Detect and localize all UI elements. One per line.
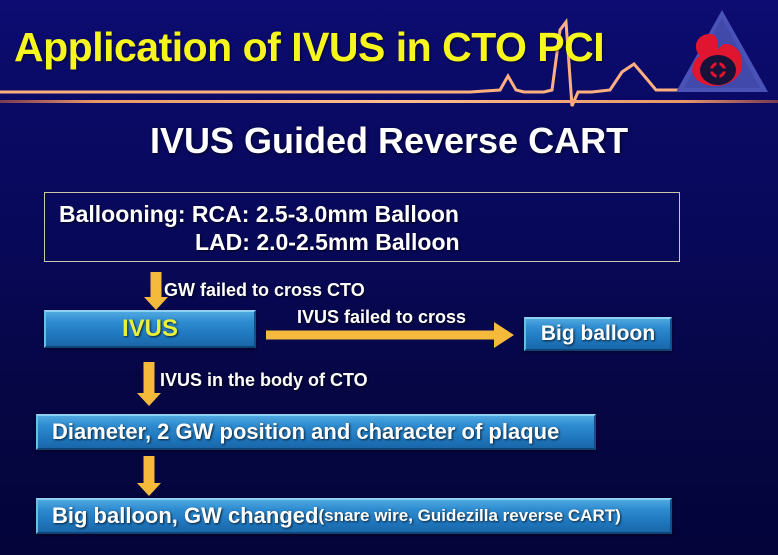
arrow-right-ivus-failed <box>266 322 514 348</box>
ivus-box[interactable]: IVUS <box>44 310 256 348</box>
ivus-box-label: IVUS <box>122 315 178 343</box>
ballooning-lad-line: LAD: 2.0-2.5mm Balloon <box>195 229 460 256</box>
arrow-label-gw-failed: GW failed to cross CTO <box>164 280 365 301</box>
arrow-down-to-final <box>132 456 166 500</box>
diameter-box-label: Diameter, 2 GW position and character of… <box>52 419 559 445</box>
final-step-label-main: Big balloon, GW changed <box>52 503 318 529</box>
ballooning-box: Ballooning: RCA: 2.5-3.0mm Balloon LAD: … <box>44 192 680 262</box>
slide-root: Application of IVUS in CTO PCI IVUS Guid… <box>0 0 778 555</box>
header-divider <box>0 100 778 103</box>
slide-header: Application of IVUS in CTO PCI <box>0 0 778 108</box>
arrow-label-ivus-body: IVUS in the body of CTO <box>160 370 368 391</box>
final-step-box[interactable]: Big balloon, GW changed (snare wire, Gui… <box>36 498 672 534</box>
ballooning-rca-line: Ballooning: RCA: 2.5-3.0mm Balloon <box>59 201 459 228</box>
big-balloon-box-label: Big balloon <box>541 322 655 346</box>
final-step-label-detail: (snare wire, Guidezilla reverse CART) <box>318 506 620 526</box>
page-title: Application of IVUS in CTO PCI <box>14 24 604 71</box>
heart-triangle-logo <box>672 4 772 104</box>
diameter-box[interactable]: Diameter, 2 GW position and character of… <box>36 414 596 450</box>
section-subtitle: IVUS Guided Reverse CART <box>0 120 778 162</box>
big-balloon-box[interactable]: Big balloon <box>524 317 672 351</box>
